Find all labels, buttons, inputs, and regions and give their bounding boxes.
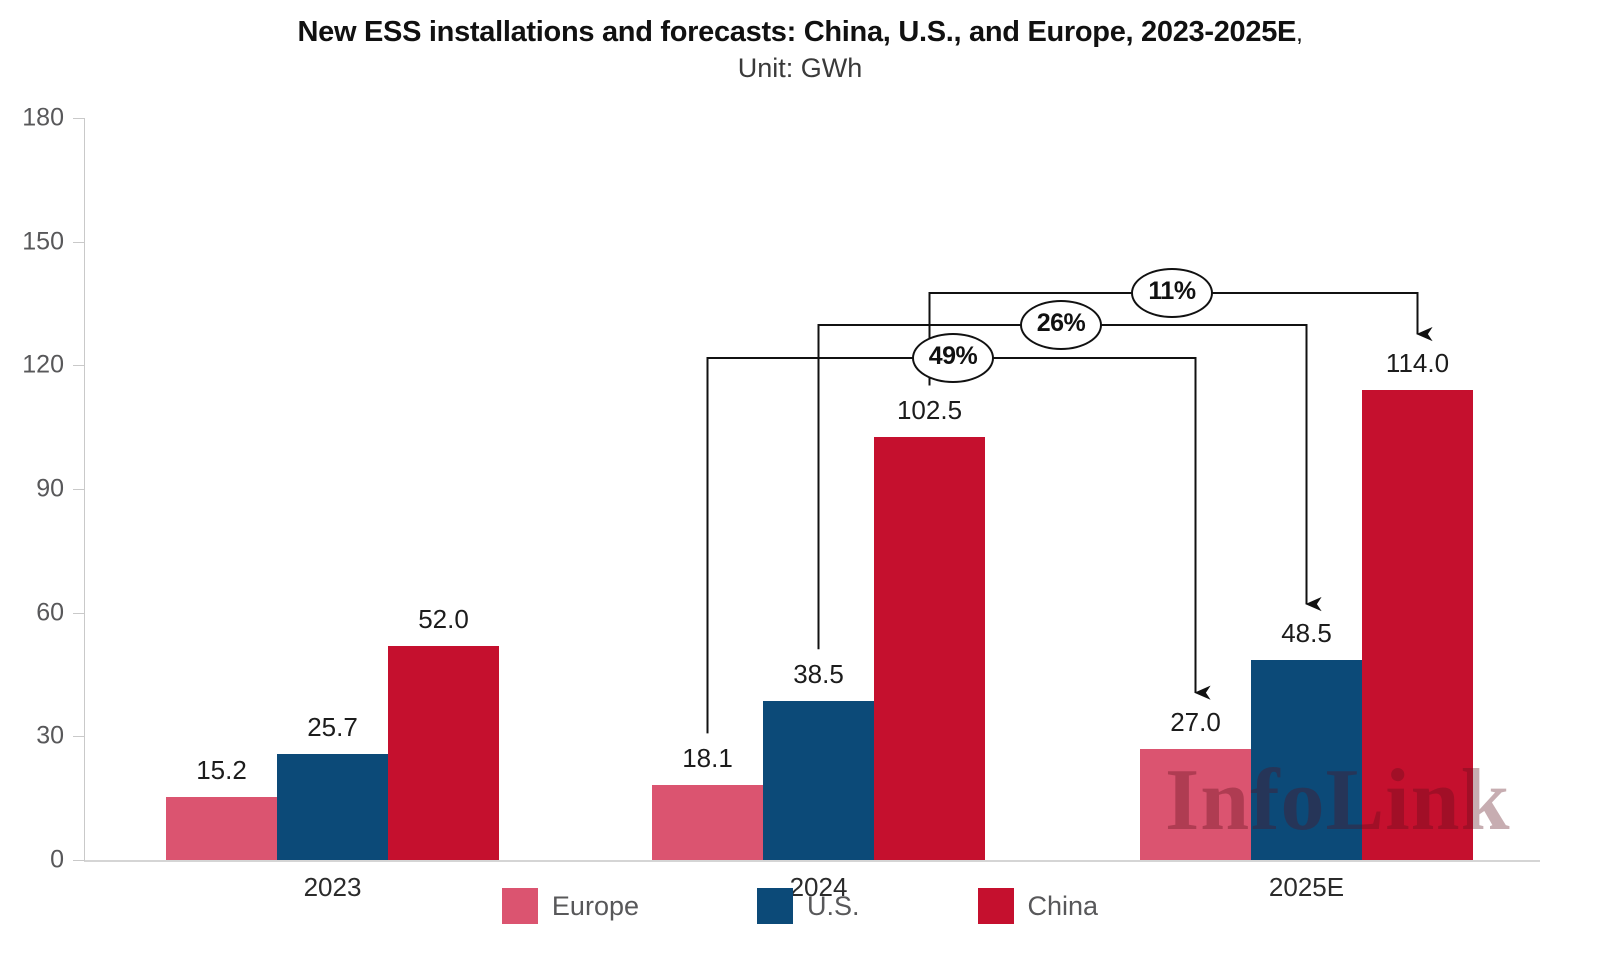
bar-us-2024[interactable] (763, 701, 874, 860)
bar-value-label: 27.0 (1170, 707, 1221, 738)
legend-label: Europe (552, 891, 639, 922)
legend-item-china[interactable]: China (978, 888, 1099, 924)
y-axis-tick-mark (73, 118, 85, 119)
bar-value-label: 48.5 (1281, 618, 1332, 649)
y-axis-tick-mark (73, 860, 85, 861)
bar-europe-2025e[interactable] (1140, 749, 1251, 860)
y-axis-tick-label: 90 (4, 475, 64, 504)
plot-area: 030609012015018015.218.127.025.738.548.5… (0, 0, 1600, 956)
growth-percent-badge: 11% (1131, 268, 1213, 318)
growth-percent-badge: 49% (912, 333, 994, 383)
y-axis-tick-label: 150 (4, 227, 64, 256)
growth-percent-badge: 26% (1020, 300, 1102, 350)
y-axis-tick-label: 0 (4, 846, 64, 875)
bar-value-label: 18.1 (682, 743, 733, 774)
y-axis-tick-mark (73, 736, 85, 737)
y-axis-tick-mark (73, 242, 85, 243)
bar-europe-2024[interactable] (652, 785, 763, 860)
bar-value-label: 38.5 (793, 659, 844, 690)
bar-china-2025e[interactable] (1362, 390, 1473, 860)
y-axis-tick-label: 180 (4, 104, 64, 133)
legend-swatch-icon (502, 888, 538, 924)
x-axis-baseline (84, 860, 1540, 862)
bar-value-label: 52.0 (418, 604, 469, 635)
bar-china-2024[interactable] (874, 437, 985, 860)
bar-europe-2023[interactable] (166, 797, 277, 860)
bar-value-label: 102.5 (897, 395, 962, 426)
y-axis-tick-mark (73, 613, 85, 614)
legend-swatch-icon (978, 888, 1014, 924)
legend-item-us[interactable]: U.S. (757, 888, 860, 924)
y-axis-tick-label: 60 (4, 598, 64, 627)
bar-value-label: 15.2 (196, 755, 247, 786)
y-axis-tick-mark (73, 365, 85, 366)
legend-item-europe[interactable]: Europe (502, 888, 639, 924)
legend-label: China (1028, 891, 1099, 922)
bar-value-label: 114.0 (1386, 348, 1449, 379)
y-axis-tick-mark (73, 489, 85, 490)
y-axis-tick-label: 30 (4, 722, 64, 751)
chart-legend: EuropeU.S.China (0, 888, 1600, 924)
legend-swatch-icon (757, 888, 793, 924)
chart-root: New ESS installations and forecasts: Chi… (0, 0, 1600, 956)
y-axis-tick-label: 120 (4, 351, 64, 380)
bar-us-2023[interactable] (277, 754, 388, 860)
legend-label: U.S. (807, 891, 860, 922)
bar-value-label: 25.7 (307, 712, 358, 743)
bar-china-2023[interactable] (388, 646, 499, 860)
bar-us-2025e[interactable] (1251, 660, 1362, 860)
